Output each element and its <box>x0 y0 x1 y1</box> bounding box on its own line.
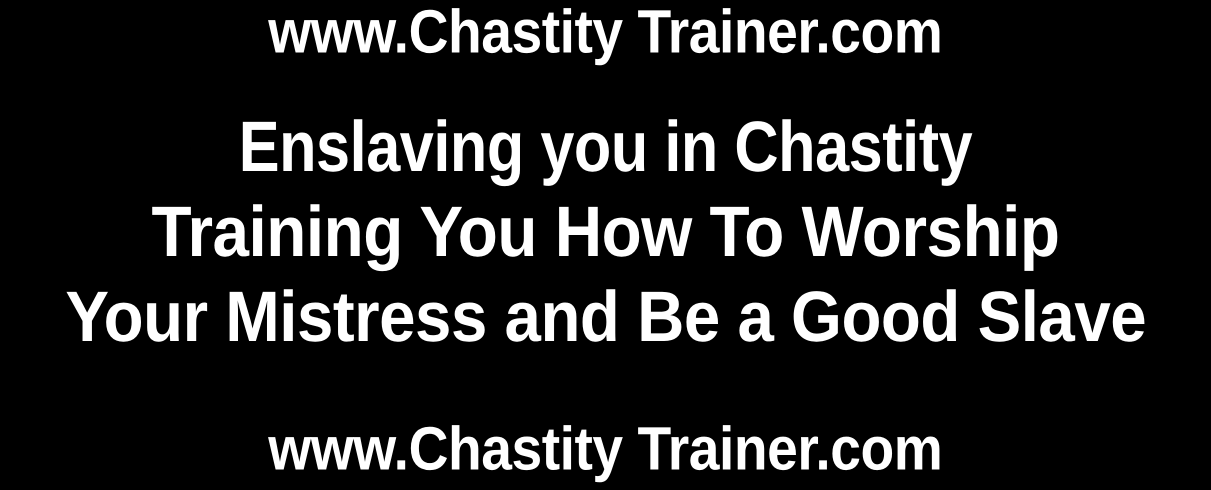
site-url-top: www.Chastity Trainer.com <box>0 2 1211 62</box>
subline-two-text: Your Mistress and Be a Good Slave <box>65 281 1146 352</box>
subline-one: Training You How To Worship <box>0 198 1211 266</box>
site-url-bottom-text: www.Chastity Trainer.com <box>268 418 942 479</box>
subline-one-text: Training You How To Worship <box>151 196 1059 267</box>
site-url-bottom: www.Chastity Trainer.com <box>0 419 1211 479</box>
subline-two: Your Mistress and Be a Good Slave <box>0 283 1211 351</box>
headline-text: Enslaving you in Chastity <box>239 111 973 182</box>
promo-banner: www.Chastity Trainer.com Enslaving you i… <box>0 0 1211 490</box>
site-url-top-text: www.Chastity Trainer.com <box>268 1 942 62</box>
headline: Enslaving you in Chastity <box>0 113 1211 181</box>
